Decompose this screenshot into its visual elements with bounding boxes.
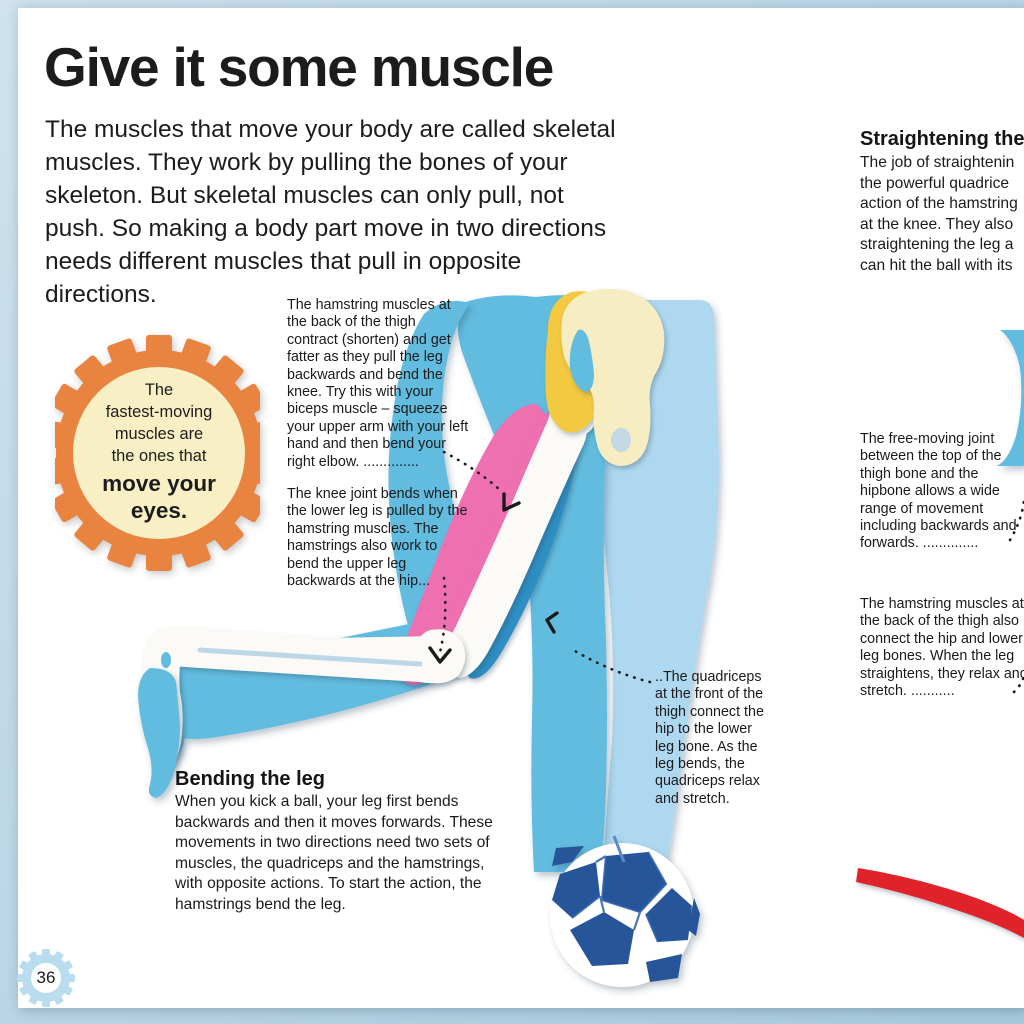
book-spread: Give it some muscle The muscles that mov… bbox=[0, 0, 1024, 1024]
page-number-badge: 36 bbox=[16, 948, 76, 1008]
straightening-heading: Straightening the bbox=[860, 128, 1024, 151]
badge-line-1: The bbox=[145, 381, 173, 399]
fun-fact-badge: The fastest-moving muscles are the ones … bbox=[55, 333, 260, 573]
straightening-body-line-6: can hit the ball with its bbox=[860, 256, 1024, 277]
straightening-body-line-1: The job of straightenin bbox=[860, 153, 1024, 174]
badge-emphasis: move your eyes. bbox=[85, 470, 233, 524]
straightening-body-line-3: action of the hamstring bbox=[860, 194, 1024, 215]
badge-line-4: the ones that bbox=[112, 447, 207, 465]
straightening-body-line-5: straightening the leg a bbox=[860, 235, 1024, 256]
straightening-body-line-4: at the knee. They also bbox=[860, 215, 1024, 236]
badge-line-2: fastest-moving bbox=[106, 403, 213, 421]
bending-the-leg-heading: Bending the leg bbox=[175, 768, 325, 791]
bending-the-leg-body: When you kick a ball, your leg first ben… bbox=[175, 792, 508, 916]
badge-text: The fastest-moving muscles are the ones … bbox=[85, 379, 233, 524]
straightening-body: The job of straighteninthe powerful quad… bbox=[860, 153, 1024, 277]
badge-line-3: muscles are bbox=[115, 425, 203, 443]
caption-quadriceps: ..The quadriceps at the front of the thi… bbox=[655, 669, 773, 808]
page-title: Give it some muscle bbox=[44, 35, 553, 99]
intro-paragraph: The muscles that move your body are call… bbox=[45, 113, 625, 311]
straightening-body-line-2: the powerful quadrice bbox=[860, 174, 1024, 195]
caption-hamstring-hip: The hamstring muscles at the back of the… bbox=[860, 596, 1024, 700]
caption-hamstring: The hamstring muscles at the back of the… bbox=[287, 297, 469, 471]
page-number: 36 bbox=[16, 948, 76, 1008]
caption-knee-joint: The knee joint bends when the lower leg … bbox=[287, 486, 469, 590]
caption-hip-joint: The free-moving joint between the top of… bbox=[860, 431, 1024, 553]
